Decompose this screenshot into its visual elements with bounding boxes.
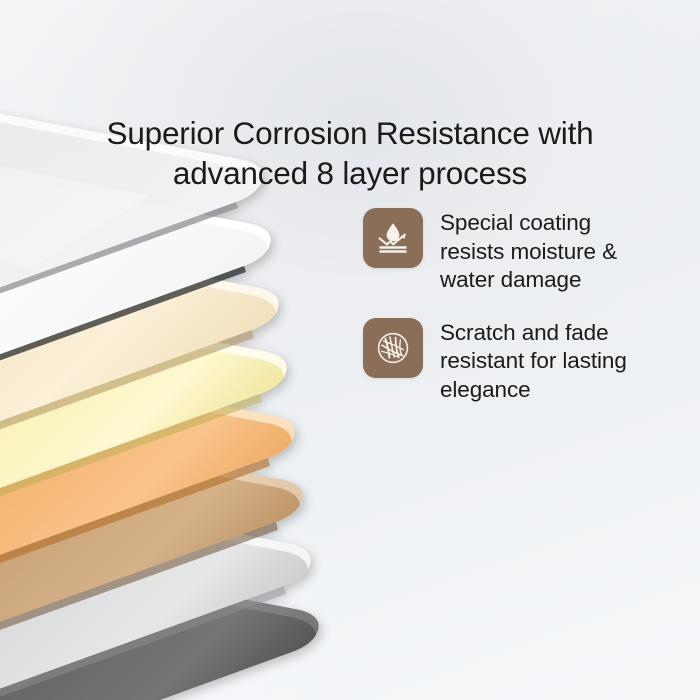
- feature-list: Special coating resists moisture & water…: [363, 208, 673, 427]
- water-repellent-icon: [374, 219, 412, 257]
- feature-item-label: Scratch and fade resistant for lasting e…: [440, 318, 627, 405]
- feature-item-label: Special coating resists moisture & water…: [440, 208, 617, 295]
- page-title: Superior Corrosion Resistance with advan…: [50, 113, 650, 193]
- scratch-resistant-icon-container: [363, 318, 423, 378]
- water-repellent-icon-container: [363, 208, 423, 268]
- layer-stack-illustration: [0, 0, 420, 700]
- scratch-resistant-icon: [374, 329, 412, 367]
- promo-graphic-canvas: Superior Corrosion Resistance with advan…: [0, 0, 700, 700]
- feature-item-moisture-resistance: Special coating resists moisture & water…: [363, 208, 673, 295]
- feature-item-scratch-resistance: Scratch and fade resistant for lasting e…: [363, 318, 673, 405]
